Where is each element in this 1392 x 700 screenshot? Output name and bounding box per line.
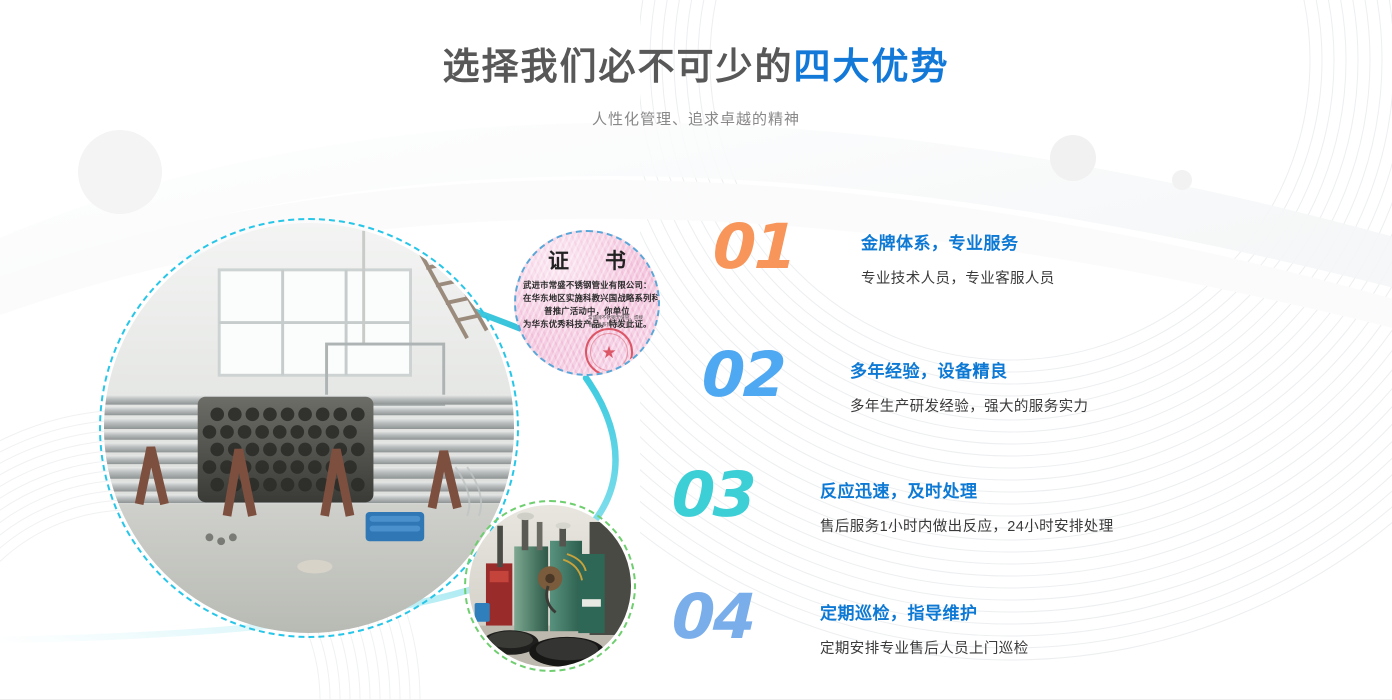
advantage-desc-03: 售后服务1小时内做出反应，24小时安排处理 [820, 515, 1114, 536]
advantage-title-02: 多年经验，设备精良 [850, 357, 1088, 382]
advantage-item-01[interactable]: 01 金牌体系，专业服务 专业技术人员，专业客服人员 [660, 216, 1055, 288]
advantage-number-02: 02 [659, 344, 851, 406]
advantage-text-01: 金牌体系，专业服务 专业技术人员，专业客服人员 [861, 216, 1055, 288]
advantage-text-04: 定期巡检，指导维护 定期安排专业售后人员上门巡检 [820, 586, 1029, 658]
advantages-list: 01 金牌体系，专业服务 专业技术人员，专业客服人员 02 多年经验，设备精良 … [0, 0, 1392, 700]
advantage-number-01: 01 [659, 216, 862, 278]
advantage-item-04[interactable]: 04 定期巡检，指导维护 定期安排专业售后人员上门巡检 [660, 586, 1029, 658]
advantage-title-01: 金牌体系，专业服务 [861, 229, 1055, 254]
advantage-item-02[interactable]: 02 多年经验，设备精良 多年生产研发经验，强大的服务实力 [660, 344, 1088, 416]
advantage-title-03: 反应迅速，及时处理 [820, 477, 1114, 502]
advantage-number-04: 04 [659, 586, 821, 648]
advantage-number-03: 03 [659, 464, 821, 526]
advantage-item-03[interactable]: 03 反应迅速，及时处理 售后服务1小时内做出反应，24小时安排处理 [660, 464, 1114, 536]
advantage-desc-02: 多年生产研发经验，强大的服务实力 [850, 395, 1088, 416]
advantage-text-03: 反应迅速，及时处理 售后服务1小时内做出反应，24小时安排处理 [820, 464, 1114, 536]
advantage-desc-01: 专业技术人员，专业客服人员 [861, 267, 1055, 288]
advantage-title-04: 定期巡检，指导维护 [820, 599, 1029, 624]
advantages-section: 选择我们必不可少的四大优势 人性化管理、追求卓越的精神 [0, 0, 1392, 700]
advantage-text-02: 多年经验，设备精良 多年生产研发经验，强大的服务实力 [850, 344, 1088, 416]
advantage-desc-04: 定期安排专业售后人员上门巡检 [820, 637, 1029, 658]
